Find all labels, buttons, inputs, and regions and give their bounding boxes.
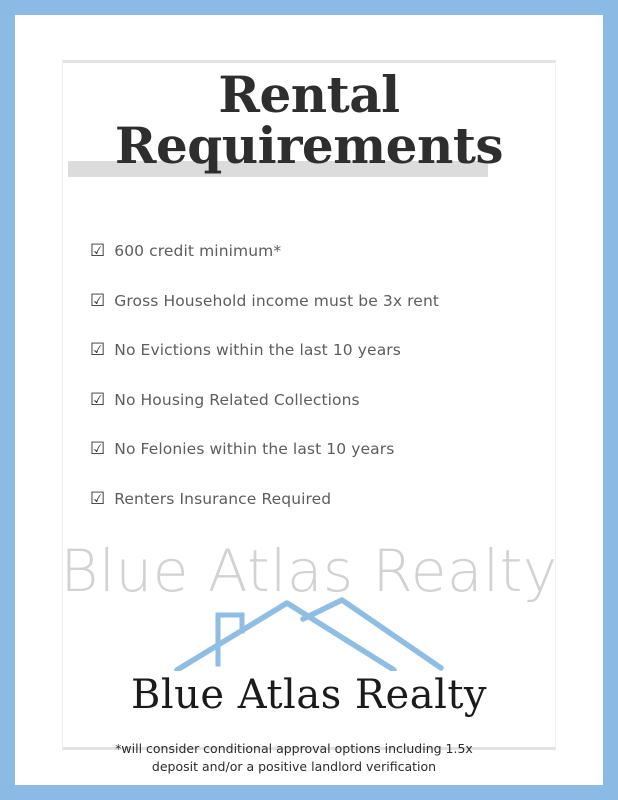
list-item[interactable]: ☑ No Housing Related Collections	[90, 392, 510, 442]
list-item-label: Gross Household income must be 3x rent	[114, 294, 439, 310]
checkbox-checked-icon[interactable]: ☑	[90, 342, 105, 359]
title-line-rental: Rental	[15, 70, 603, 119]
footnote-line-1: *will consider conditional approval opti…	[47, 740, 541, 758]
checkbox-checked-icon[interactable]: ☑	[90, 392, 105, 409]
list-item[interactable]: ☑ Gross Household income must be 3x rent	[90, 293, 510, 343]
flyer-page: Rental Requirements ☑ 600 credit minimum…	[15, 15, 603, 785]
checkbox-checked-icon[interactable]: ☑	[90, 491, 105, 508]
footnote-line-2: deposit and/or a positive landlord verif…	[47, 758, 541, 776]
checkbox-checked-icon[interactable]: ☑	[90, 293, 105, 310]
list-item-label: No Housing Related Collections	[114, 393, 359, 409]
footnote: *will consider conditional approval opti…	[47, 740, 541, 776]
roof-logo-icon	[15, 595, 603, 676]
title-line-requirements: Requirements	[15, 121, 603, 170]
requirements-checklist: ☑ 600 credit minimum* ☑ Gross Household …	[90, 243, 510, 540]
logo-company-name: Blue Atlas Realty	[15, 672, 603, 718]
checkbox-checked-icon[interactable]: ☑	[90, 441, 105, 458]
list-item-label: No Felonies within the last 10 years	[114, 442, 394, 458]
checkbox-checked-icon[interactable]: ☑	[90, 243, 105, 260]
list-item[interactable]: ☑ No Evictions within the last 10 years	[90, 342, 510, 392]
list-item[interactable]: ☑ No Felonies within the last 10 years	[90, 441, 510, 491]
page-title: Rental Requirements	[15, 70, 603, 170]
list-item-label: Renters Insurance Required	[114, 492, 331, 508]
list-item[interactable]: ☑ 600 credit minimum*	[90, 243, 510, 293]
list-item-label: 600 credit minimum*	[114, 244, 281, 260]
rental-requirements-flyer: Rental Requirements ☑ 600 credit minimum…	[0, 0, 618, 800]
roof-logo-svg	[174, 595, 444, 671]
list-item[interactable]: ☑ Renters Insurance Required	[90, 491, 510, 541]
list-item-label: No Evictions within the last 10 years	[114, 343, 401, 359]
